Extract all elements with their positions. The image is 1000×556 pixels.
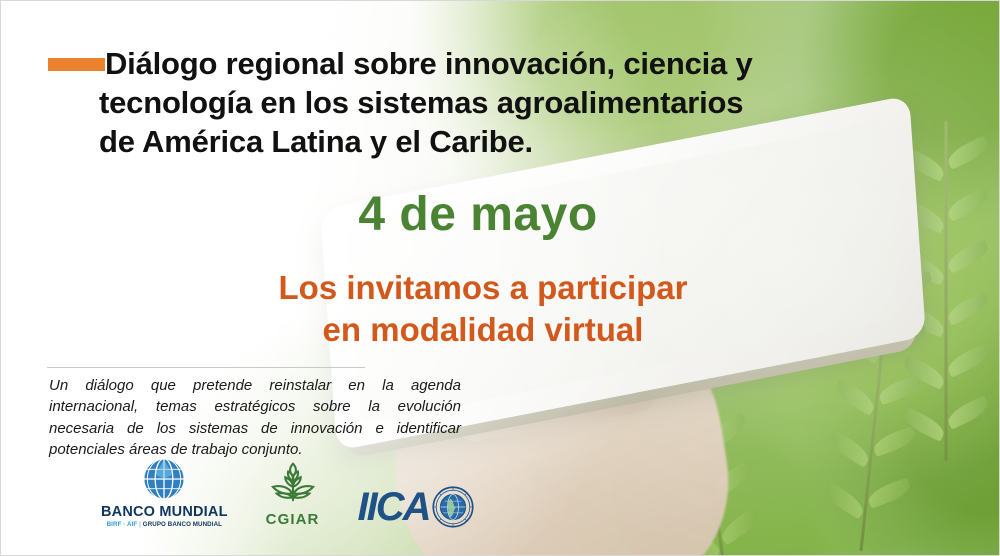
- orange-accent-bar: [48, 58, 105, 71]
- logo-world-bank: BANCO MUNDIAL BIRF · AIF | GRUPO BANCO M…: [101, 457, 228, 528]
- invitation-text: Los invitamos a participar en modalidad …: [0, 267, 982, 350]
- logo-cgiar: CGIAR: [266, 459, 320, 528]
- logo-cgiar-name: CGIAR: [266, 511, 320, 528]
- title-line-1: Diálogo regional sobre innovación, cienc…: [105, 45, 915, 84]
- logo-iica: IICA: [358, 486, 474, 528]
- globe-icon: [142, 457, 186, 501]
- invitation-line-1: Los invitamos a participar: [0, 267, 982, 309]
- page-title: Diálogo regional sobre innovación, cienc…: [105, 45, 915, 161]
- divider: [47, 367, 365, 368]
- logo-world-bank-birf: BIRF · AIF: [107, 521, 138, 528]
- invitation-line-2: en modalidad virtual: [0, 309, 982, 351]
- title-line-3: de América Latina y el Caribe.: [99, 123, 915, 162]
- logo-iica-name: IICA: [358, 487, 430, 527]
- logo-world-bank-name: BANCO MUNDIAL: [101, 504, 228, 520]
- logo-world-bank-separator: |: [139, 521, 141, 528]
- logo-world-bank-subtitle: BIRF · AIF | GRUPO BANCO MUNDIAL: [107, 521, 222, 528]
- event-date: 4 de mayo: [0, 187, 977, 242]
- logo-world-bank-group: GRUPO BANCO MUNDIAL: [143, 521, 222, 528]
- description-paragraph: Un diálogo que pretende reinstalar en la…: [49, 375, 461, 460]
- logo-strip: BANCO MUNDIAL BIRF · AIF | GRUPO BANCO M…: [101, 457, 474, 528]
- globe-seal-icon: [432, 486, 474, 528]
- wheat-plant-icon: [269, 459, 317, 507]
- event-promo-banner: Diálogo regional sobre innovación, cienc…: [0, 0, 1000, 556]
- title-line-2: tecnología en los sistemas agroalimentar…: [99, 84, 915, 123]
